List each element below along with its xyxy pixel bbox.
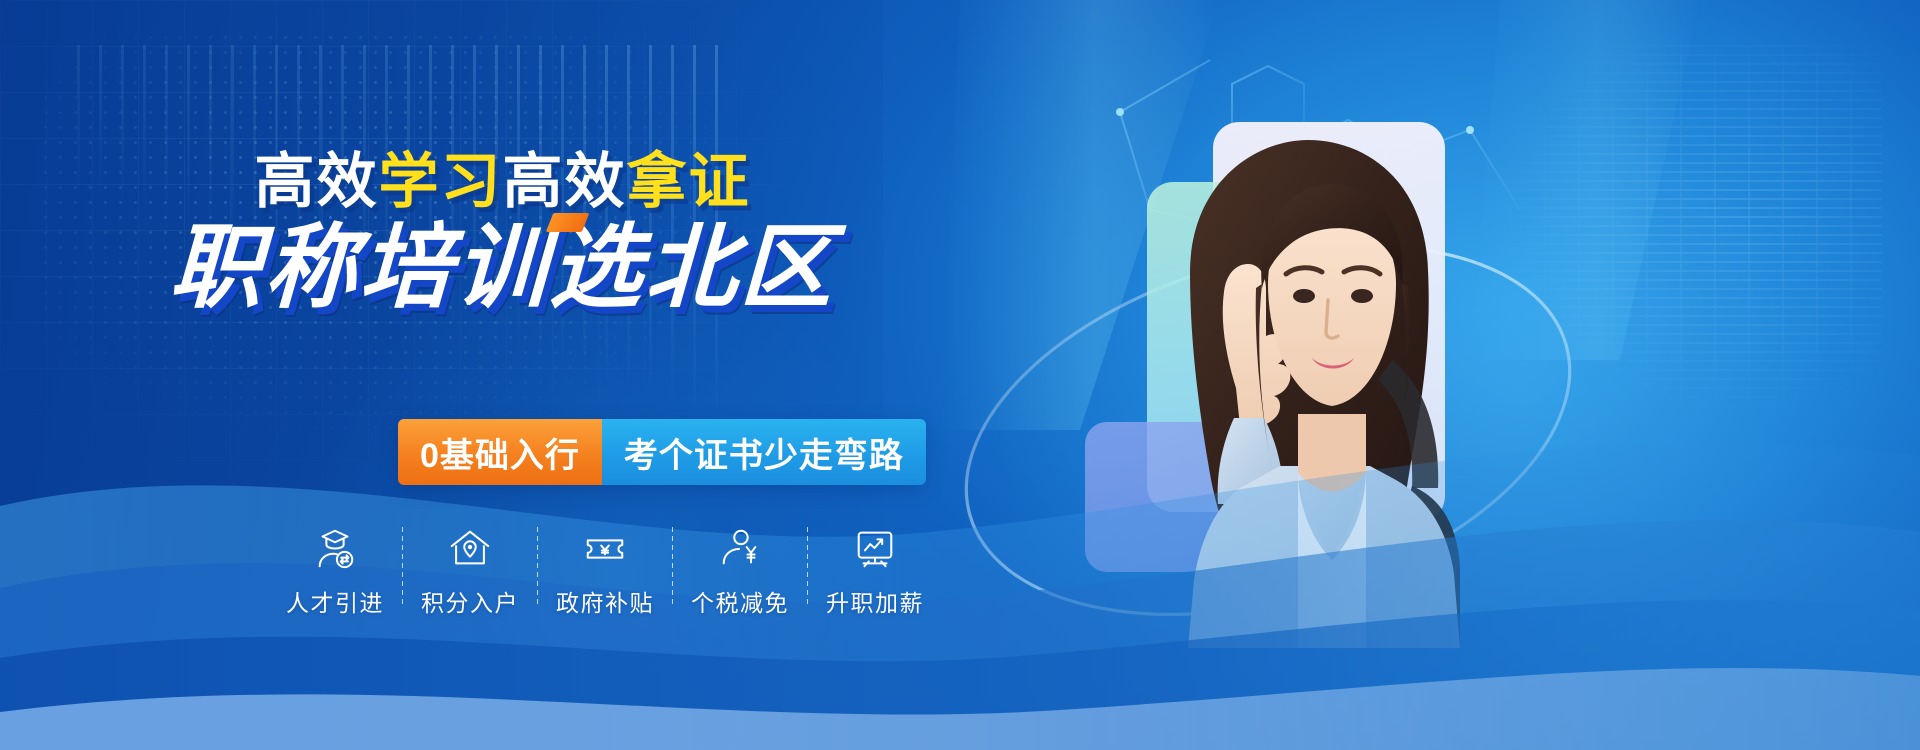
main-headline: 职称培训选北区 [0,222,1007,314]
headline-lead: 职称培训 [168,217,552,319]
eye-left [1293,289,1315,303]
graduate-person-icon [312,525,358,571]
feature-item-tax-reduction[interactable]: 个税减免 [673,525,807,618]
orange-accent-mark [546,213,590,232]
promo-banner: 高效学习高效拿证 职称培训选北区 0基础入行 考个证书少走弯路 人才引进 [0,0,1920,750]
feature-label: 人才引进 [286,584,384,618]
sub-headline-seg-1: 高效 [255,148,379,215]
tagline-badge: 0基础入行 考个证书少走弯路 [398,419,926,485]
feature-label: 升职加薪 [826,584,924,618]
feature-item-points-residence[interactable]: 积分入户 [403,525,537,618]
headline-tail: 北区 [643,217,837,319]
feature-item-talent-introduction[interactable]: 人才引进 [268,525,402,618]
sub-headline: 高效学习高效拿证 [0,152,1005,212]
banner-content: 高效学习高效拿证 职称培训选北区 0基础入行 考个证书少走弯路 人才引进 [0,0,1100,750]
feature-label: 政府补贴 [556,584,654,618]
sub-headline-seg-4: 拿证 [627,148,751,215]
feature-item-promotion-raise[interactable]: 升职加薪 [808,525,942,618]
eye-right [1351,289,1373,303]
growth-chart-icon [852,525,898,571]
sub-headline-seg-3: 高效 [503,148,627,215]
feature-label: 积分入户 [421,584,519,618]
badge-secondary-label: 考个证书少走弯路 [602,419,926,485]
voucher-yuan-icon [582,525,628,571]
headline-accent-char-wrap: 选 [548,222,646,314]
person-yuan-icon [717,525,763,571]
feature-label: 个税减免 [691,584,789,618]
headline-accent-char: 选 [548,217,647,319]
badge-primary-label: 0基础入行 [398,419,602,485]
house-pin-icon [447,525,493,571]
feature-item-government-subsidy[interactable]: 政府补贴 [538,525,672,618]
sub-headline-seg-2: 学习 [379,148,503,215]
feature-list: 人才引进 积分入户 政府补贴 [268,525,968,640]
